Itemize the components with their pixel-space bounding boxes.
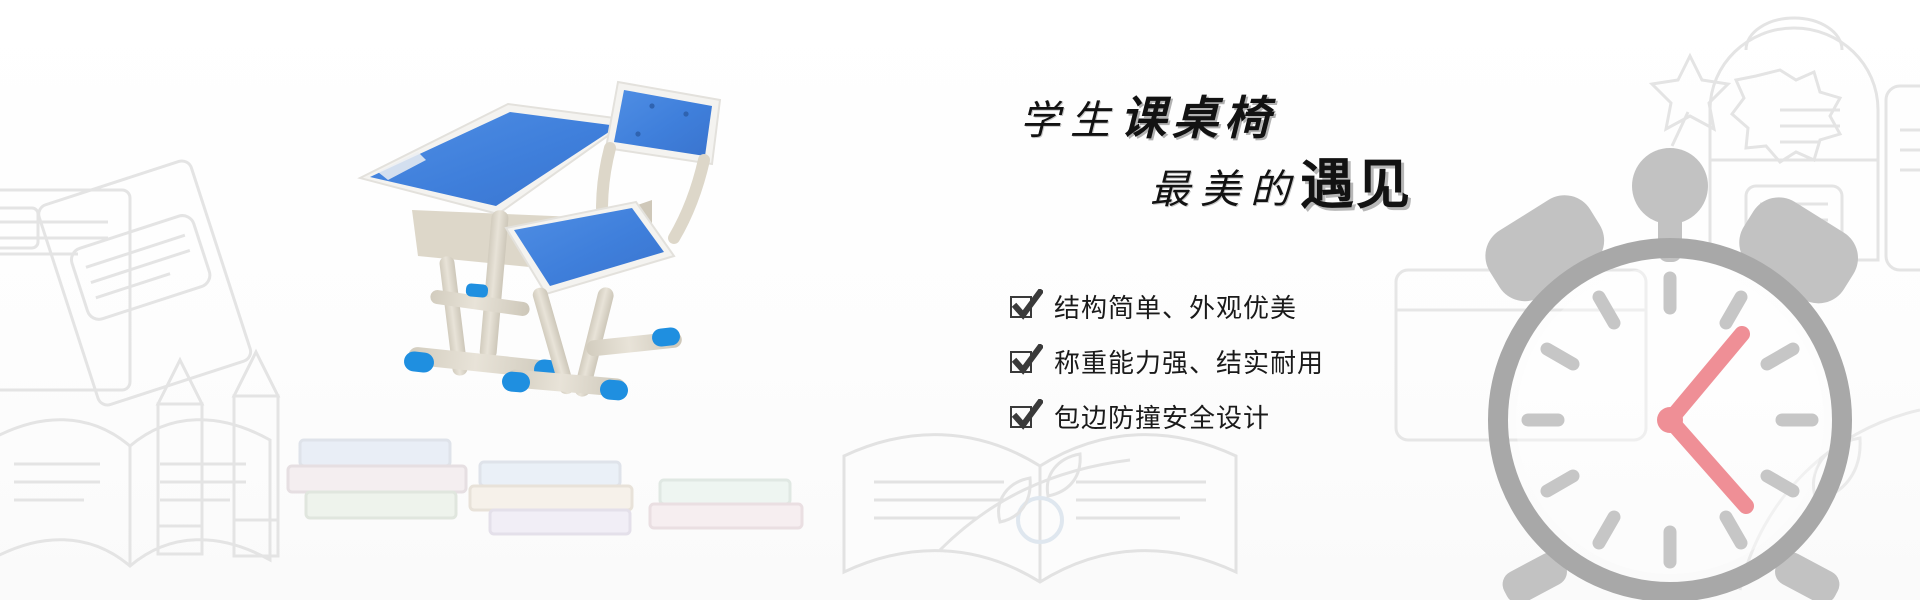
feature-text: 称重能力强、结实耐用 (1054, 343, 1324, 380)
headline-line-1: 学生课桌椅 (1020, 96, 1276, 142)
feature-text: 包边防撞安全设计 (1054, 398, 1270, 435)
checkbox-checked-icon (1010, 404, 1036, 430)
checkbox-checked-icon (1010, 349, 1036, 375)
list-item: 结构简单、外观优美 (1010, 288, 1570, 325)
list-item: 称重能力强、结实耐用 (1010, 343, 1570, 380)
promo-banner: 学生课桌椅 最美的遇见 结构简单、外观优美 (0, 0, 1920, 600)
product-image-desk-chair (300, 60, 860, 500)
open-book-icon (0, 390, 280, 600)
list-item: 包边防撞安全设计 (1010, 398, 1570, 435)
headline-line1-part2: 课桌椅 (1120, 93, 1276, 144)
copy-block: 学生课桌椅 最美的遇见 结构简单、外观优美 (1010, 96, 1570, 453)
notebook-icon (0, 130, 300, 430)
checkbox-checked-icon (1010, 294, 1036, 320)
headline-line2-part1: 最美的 (1150, 167, 1300, 212)
headline-line2-part2: 遇见 (1300, 155, 1412, 215)
feature-list: 结构简单、外观优美 称重能力强、结实耐用 包边防撞安 (1010, 288, 1570, 435)
headline: 学生课桌椅 最美的遇见 (1010, 96, 1570, 236)
headline-line1-part1: 学生 (1020, 98, 1120, 143)
headline-line-2: 最美的遇见 (1150, 158, 1412, 212)
feature-text: 结构简单、外观优美 (1054, 288, 1297, 325)
